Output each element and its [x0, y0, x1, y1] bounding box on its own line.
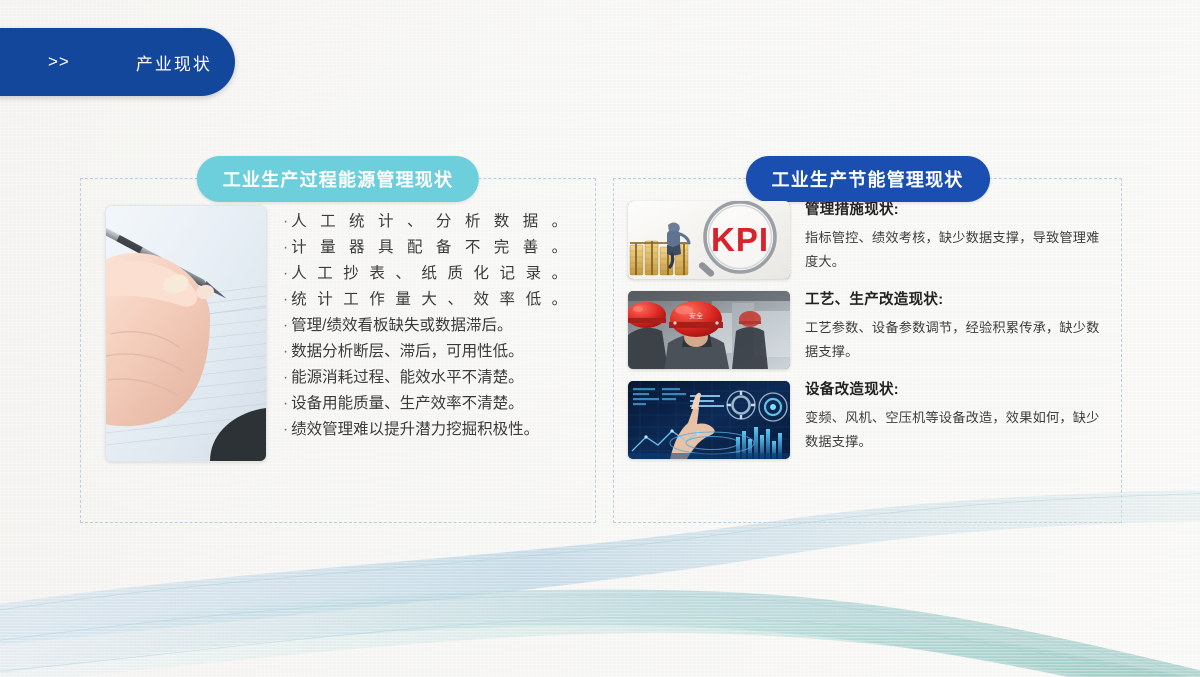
panel-energy-saving-status: 工业生产节能管理现状 — [613, 178, 1122, 523]
bullet-marker: · — [283, 213, 288, 230]
bullet-marker: · — [283, 395, 288, 412]
list-item: ·统计工作量大、效率低。 — [283, 287, 581, 313]
list-item: ·人工抄表、纸质化记录。 — [283, 261, 581, 287]
bullet-marker: · — [283, 317, 288, 334]
bullet-marker: · — [283, 239, 288, 256]
status-title: 设备改造现状: — [805, 381, 1103, 399]
list-item-text: 设备用能质量、生产效率不清楚。 — [291, 395, 524, 412]
list-item: ·绩效管理难以提升潜力挖掘积极性。 — [283, 417, 581, 443]
status-body: 工艺参数、设备参数调节，经验积累传承，缺少数据支撑。 — [805, 316, 1103, 364]
bullet-list: ·人工统计、分析数据。 ·计量器具配备不完善。 ·人工抄表、纸质化记录。 ·统计… — [283, 205, 581, 462]
panel-right-title: 工业生产节能管理现状 — [772, 166, 964, 192]
panel-left-body: ·人工统计、分析数据。 ·计量器具配备不完善。 ·人工抄表、纸质化记录。 ·统计… — [81, 179, 595, 462]
kpi-magnifier-photo: KPI — [628, 201, 790, 279]
section-tab-label: 产业现状 — [136, 50, 212, 75]
list-item-text: 能源消耗过程、能效水平不清楚。 — [291, 369, 524, 386]
list-item-text: 人工统计、分析数据。 — [291, 209, 567, 235]
bullet-marker: · — [283, 421, 288, 438]
list-item: ·管理/绩效看板缺失或数据滞后。 — [283, 313, 581, 339]
status-title: 管理措施现状: — [805, 201, 1103, 219]
list-item: ·能源消耗过程、能效水平不清楚。 — [283, 365, 581, 391]
list-item: ·人工统计、分析数据。 — [283, 209, 581, 235]
list-item-text: 统计工作量大、效率低。 — [291, 287, 567, 313]
panel-right-body: KPI 管理措施现状: 指标管控、绩效考核，缺少数据支撑，导致管理难度大。 — [614, 179, 1121, 459]
status-body: 指标管控、绩效考核，缺少数据支撑，导致管理难度大。 — [805, 226, 1103, 274]
status-title: 工艺、生产改造现状: — [805, 291, 1103, 309]
svg-text:安全: 安全 — [689, 311, 703, 320]
list-item-text: 计量器具配备不完善。 — [291, 235, 567, 261]
list-item-text: 数据分析断层、滞后，可用性低。 — [291, 343, 524, 360]
status-row: KPI 管理措施现状: 指标管控、绩效考核，缺少数据支撑，导致管理难度大。 — [628, 201, 1103, 279]
status-text-block: 管理措施现状: 指标管控、绩效考核，缺少数据支撑，导致管理难度大。 — [805, 201, 1103, 274]
list-item: ·计量器具配备不完善。 — [283, 235, 581, 261]
section-tab-industry-status[interactable]: >> 产业现状 — [0, 28, 235, 96]
bullet-marker: · — [283, 369, 288, 386]
list-item: ·数据分析断层、滞后，可用性低。 — [283, 339, 581, 365]
list-item-text: 管理/绩效看板缺失或数据滞后。 — [291, 317, 512, 334]
status-text-block: 工艺、生产改造现状: 工艺参数、设备参数调节，经验积累传承，缺少数据支撑。 — [805, 291, 1103, 364]
status-body: 变频、风机、空压机等设备改造，效果如何，缺少数据支撑。 — [805, 406, 1103, 454]
bullet-marker: · — [283, 343, 288, 360]
status-text-block: 设备改造现状: 变频、风机、空压机等设备改造，效果如何，缺少数据支撑。 — [805, 381, 1103, 454]
list-item-text: 人工抄表、纸质化记录。 — [291, 261, 567, 287]
list-item-text: 绩效管理难以提升潜力挖掘积极性。 — [291, 421, 539, 438]
panel-right-title-pill: 工业生产节能管理现状 — [746, 156, 990, 202]
status-row: 设备改造现状: 变频、风机、空压机等设备改造，效果如何，缺少数据支撑。 — [628, 381, 1103, 459]
svg-text:KPI: KPI — [711, 221, 769, 258]
panel-left-title-pill: 工业生产过程能源管理现状 — [197, 156, 479, 202]
bullet-marker: · — [283, 265, 288, 282]
panel-left-title: 工业生产过程能源管理现状 — [223, 166, 453, 192]
digital-dashboard-photo — [628, 381, 790, 459]
panel-energy-management-status: 工业生产过程能源管理现状 — [80, 178, 596, 523]
bullet-marker: · — [283, 291, 288, 308]
factory-workers-photo: 安全 — [628, 291, 790, 369]
chevron-right-icon: >> — [48, 52, 70, 72]
status-row: 安全 工艺、生产改造现状: 工艺参数、设备参数调节，经验积累传承，缺少数据支撑。 — [628, 291, 1103, 369]
list-item: ·设备用能质量、生产效率不清楚。 — [283, 391, 581, 417]
hand-writing-photo — [105, 205, 267, 462]
